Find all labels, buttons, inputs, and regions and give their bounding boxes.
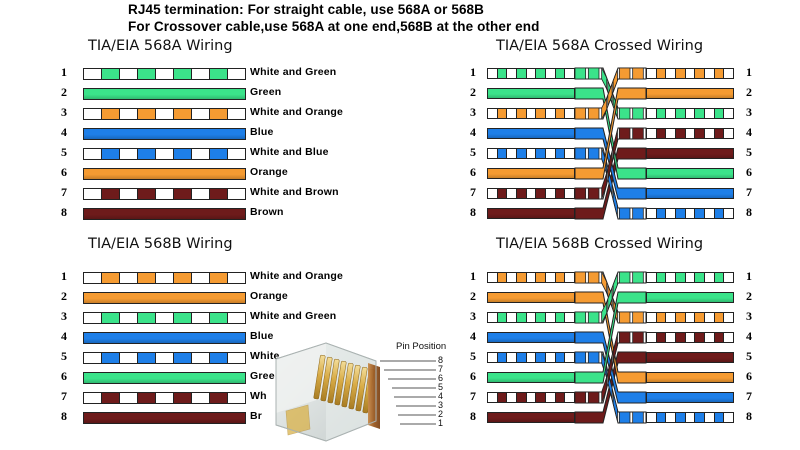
wire-stripe-segment xyxy=(714,333,725,342)
wire-stripe-segment xyxy=(694,333,705,342)
wire-bar-striped xyxy=(646,312,734,323)
wire-bar-solid xyxy=(646,292,734,303)
wire-stripe-segment xyxy=(507,393,516,402)
wire-stripe-segment xyxy=(497,313,508,322)
wire-stripe-segment xyxy=(714,413,725,422)
pin-number-left: 1 xyxy=(466,269,480,284)
wire-stripe-segment xyxy=(724,413,733,422)
wire-stripe-segment xyxy=(535,313,546,322)
rj45-connector-photo xyxy=(268,337,388,449)
wire-stripe-segment xyxy=(535,353,546,362)
wire-stripe-segment xyxy=(527,353,536,362)
wire-stripe-segment xyxy=(647,413,656,422)
wire-stripe-segment xyxy=(516,393,527,402)
wire-bar-striped xyxy=(487,312,575,323)
wire-stripe-segment xyxy=(647,313,656,322)
wire-bar-solid xyxy=(487,372,575,383)
wire-bar-solid xyxy=(646,372,734,383)
wire-stripe-segment xyxy=(516,353,527,362)
wire-bar-solid xyxy=(646,352,734,363)
rj45-wiring-diagram: RJ45 termination: For straight cable, us… xyxy=(0,0,800,450)
wire-bar-striped xyxy=(646,272,734,283)
wire-stripe-segment xyxy=(666,273,675,282)
wire-stripe-segment xyxy=(724,313,733,322)
pin-number-right: 2 xyxy=(742,289,756,304)
wire-stripe-segment xyxy=(507,313,516,322)
wire-stripe-segment xyxy=(714,313,725,322)
wire-stripe-segment xyxy=(555,313,566,322)
pin-position-label: Pin Position xyxy=(396,341,446,352)
wire-stripe-segment xyxy=(527,313,536,322)
wire-bar-striped xyxy=(487,272,575,283)
wire-stripe-segment xyxy=(656,333,667,342)
wire-stripe-segment xyxy=(705,273,714,282)
wire-bar-striped xyxy=(646,332,734,343)
wire-stripe-segment xyxy=(565,353,574,362)
wire-stripe-segment xyxy=(705,413,714,422)
wire-bar-striped xyxy=(487,352,575,363)
wire-stripe-segment xyxy=(656,313,667,322)
wire-stripe-segment xyxy=(694,413,705,422)
wire-stripe-segment xyxy=(666,313,675,322)
wire-stripe-segment xyxy=(656,273,667,282)
wire-stripe-segment xyxy=(535,393,546,402)
wire-bar-solid xyxy=(487,412,575,423)
wire-stripe-segment xyxy=(686,413,695,422)
wire-stripe-segment xyxy=(724,333,733,342)
pin-number-right: 3 xyxy=(742,309,756,324)
pin-number-right: 8 xyxy=(742,409,756,424)
wire-bar-solid xyxy=(487,292,575,303)
wire-stripe-segment xyxy=(497,393,508,402)
pin-number-right: 4 xyxy=(742,329,756,344)
wire-stripe-segment xyxy=(527,393,536,402)
wire-stripe-segment xyxy=(507,353,516,362)
wire-bar-solid xyxy=(646,392,734,403)
wire-stripe-segment xyxy=(705,333,714,342)
wire-stripe-segment xyxy=(666,413,675,422)
wire-stripe-segment xyxy=(555,273,566,282)
wire-stripe-segment xyxy=(565,313,574,322)
pin-number-right: 7 xyxy=(742,389,756,404)
wire-bar-solid xyxy=(487,332,575,343)
rj45-connector-illustration xyxy=(268,337,388,449)
wire-stripe-segment xyxy=(694,273,705,282)
pin-number-right: 1 xyxy=(742,269,756,284)
wire-stripe-segment xyxy=(647,333,656,342)
wire-stripe-segment xyxy=(546,313,555,322)
wire-bar-striped xyxy=(646,412,734,423)
wire-stripe-segment xyxy=(546,353,555,362)
wire-stripe-segment xyxy=(675,313,686,322)
wire-stripe-segment xyxy=(555,393,566,402)
wire-stripe-segment xyxy=(686,273,695,282)
wire-stripe-segment xyxy=(694,313,705,322)
wire-stripe-segment xyxy=(535,273,546,282)
pin-number-right: 6 xyxy=(742,369,756,384)
wire-stripe-segment xyxy=(686,313,695,322)
wire-stripe-segment xyxy=(516,313,527,322)
pin-number-left: 4 xyxy=(466,329,480,344)
wire-stripe-segment xyxy=(647,273,656,282)
pin-number-left: 2 xyxy=(466,289,480,304)
pin-number-right: 5 xyxy=(742,349,756,364)
wire-stripe-segment xyxy=(675,413,686,422)
wire-stripe-segment xyxy=(656,413,667,422)
wire-stripe-segment xyxy=(488,313,497,322)
wire-stripe-segment xyxy=(705,313,714,322)
wire-stripe-segment xyxy=(497,353,508,362)
wire-stripe-segment xyxy=(686,333,695,342)
wire-stripe-segment xyxy=(666,333,675,342)
pin-number-left: 3 xyxy=(466,309,480,324)
wire-stripe-segment xyxy=(497,273,508,282)
callout-pin-number: 1 xyxy=(438,418,443,428)
wire-stripe-segment xyxy=(675,273,686,282)
wire-stripe-segment xyxy=(546,273,555,282)
wire-stripe-segment xyxy=(527,273,536,282)
wire-stripe-segment xyxy=(565,273,574,282)
wire-stripe-segment xyxy=(675,333,686,342)
wire-stripe-segment xyxy=(546,393,555,402)
wire-stripe-segment xyxy=(714,273,725,282)
wire-stripe-segment xyxy=(488,273,497,282)
wire-stripe-segment xyxy=(565,393,574,402)
wire-bar-striped xyxy=(487,392,575,403)
wire-stripe-segment xyxy=(516,273,527,282)
wire-stripe-segment xyxy=(724,273,733,282)
wire-stripe-segment xyxy=(507,273,516,282)
wire-stripe-segment xyxy=(555,353,566,362)
